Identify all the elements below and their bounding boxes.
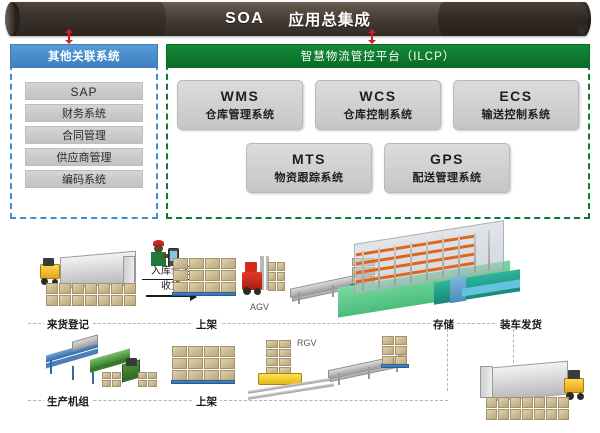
pallet-load bbox=[46, 283, 134, 308]
ilcp-platform-header: 智慧物流管控平台（ILCP） bbox=[166, 44, 590, 68]
architecture-diagram: SOA 应用总集成 其他关联系统 SAP 财务系统 合同管理 供应商管理 编码系… bbox=[0, 0, 600, 433]
list-item[interactable]: 财务系统 bbox=[25, 104, 143, 122]
module-code: MTS bbox=[292, 151, 326, 167]
soa-bar-title: SOA 应用总集成 bbox=[6, 2, 590, 36]
conveyor-illustration-bottom bbox=[328, 350, 418, 394]
list-item[interactable]: 编码系统 bbox=[25, 170, 143, 188]
module-name: 仓库管理系统 bbox=[206, 106, 275, 122]
module-code: GPS bbox=[430, 151, 464, 167]
agv-label: AGV bbox=[250, 302, 269, 312]
module-card-gps[interactable]: GPS 配送管理系统 bbox=[384, 143, 510, 193]
list-item[interactable]: SAP bbox=[25, 82, 143, 100]
module-name: 输送控制系统 bbox=[482, 106, 551, 122]
list-item[interactable]: 供应商管理 bbox=[25, 148, 143, 166]
flow-label-storage: 存储 bbox=[430, 317, 457, 332]
flow-connector-storage bbox=[447, 329, 448, 391]
production-line-illustration bbox=[42, 332, 162, 394]
stacked-pallet-illustration bbox=[173, 258, 237, 298]
module-code: WMS bbox=[221, 88, 260, 104]
list-item[interactable]: 合同管理 bbox=[25, 126, 143, 144]
flow-label-putaway-top: 上架 bbox=[193, 317, 220, 332]
rgv-label: RGV bbox=[297, 338, 317, 348]
agv-illustration bbox=[240, 256, 286, 302]
flow-connector-shipping bbox=[513, 329, 514, 363]
module-name: 物资跟踪系统 bbox=[275, 169, 344, 185]
flow-label-receiving: 来货登记 bbox=[44, 317, 92, 332]
soa-title-cn: 应用总集成 bbox=[288, 8, 371, 30]
inbound-truck-illustration bbox=[38, 252, 143, 312]
module-name: 仓库控制系统 bbox=[344, 106, 413, 122]
related-systems-header: 其他关联系统 bbox=[10, 44, 158, 68]
related-systems-panel: 其他关联系统 SAP 财务系统 合同管理 供应商管理 编码系统 bbox=[10, 44, 158, 219]
flow-label-production: 生产机组 bbox=[44, 394, 92, 409]
outbound-truck-illustration bbox=[478, 360, 590, 426]
logistics-process-illustration: 入库设定 收货 bbox=[0, 228, 600, 433]
warehouse-racking-illustration bbox=[338, 232, 524, 316]
soa-title-en: SOA bbox=[225, 10, 264, 28]
module-card-wms[interactable]: WMS 仓库管理系统 bbox=[177, 80, 303, 130]
module-cards-row-1: WMS 仓库管理系统 WCS 仓库控制系统 ECS 输送控制系统 bbox=[176, 80, 580, 130]
connector-arrow-right bbox=[367, 29, 376, 44]
module-cards-row-2: MTS 物资跟踪系统 GPS 配送管理系统 bbox=[176, 143, 580, 193]
flow-label-putaway-bottom: 上架 bbox=[193, 394, 220, 409]
related-systems-list: SAP 财务系统 合同管理 供应商管理 编码系统 bbox=[25, 82, 143, 188]
ilcp-platform-panel: 智慧物流管控平台（ILCP） WMS 仓库管理系统 WCS 仓库控制系统 ECS… bbox=[166, 44, 590, 219]
soa-integration-bar: SOA 应用总集成 bbox=[6, 2, 590, 36]
connector-arrow-left bbox=[64, 29, 73, 44]
flow-line-top bbox=[28, 323, 540, 324]
module-code: ECS bbox=[499, 88, 532, 104]
module-name: 配送管理系统 bbox=[413, 169, 482, 185]
module-card-wcs[interactable]: WCS 仓库控制系统 bbox=[315, 80, 441, 130]
module-card-ecs[interactable]: ECS 输送控制系统 bbox=[453, 80, 579, 130]
module-card-mts[interactable]: MTS 物资跟踪系统 bbox=[246, 143, 372, 193]
stacked-pallet-illustration-bottom bbox=[172, 346, 236, 390]
module-code: WCS bbox=[359, 88, 396, 104]
flow-label-shipping: 装车发货 bbox=[497, 317, 545, 332]
